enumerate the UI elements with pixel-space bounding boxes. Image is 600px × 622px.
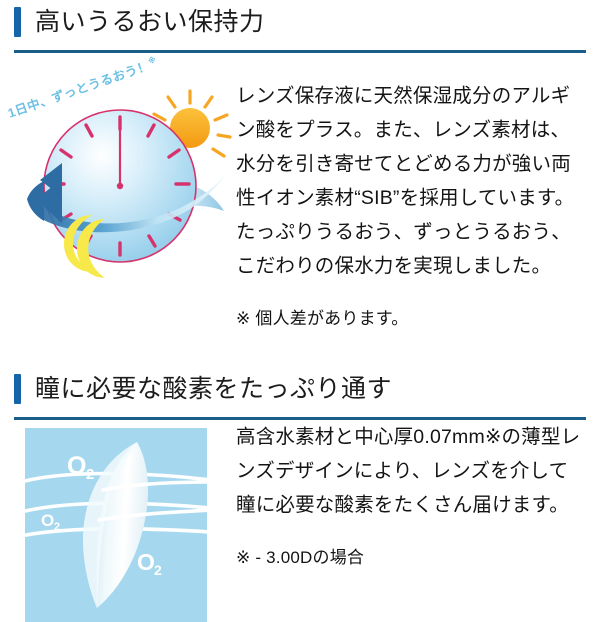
o2-label-top: O bbox=[67, 452, 86, 480]
heading-divider-1 bbox=[14, 50, 586, 53]
o2-label-right-sub: 2 bbox=[154, 562, 162, 578]
product-feature-page: 高いうるおい保持力 bbox=[0, 0, 600, 600]
o2-label-top-sub: 2 bbox=[86, 466, 94, 483]
section-1-note: ※ 個人差があります。 bbox=[236, 305, 584, 333]
lens-oxygen-svg: O 2 O 2 O 2 bbox=[25, 428, 207, 622]
section-1-title: 高いうるおい保持力 bbox=[35, 10, 265, 35]
section-2-text-column: 高含水素材と中心厚0.07mm※の薄型レンズデザインにより、レンズを介して瞳に必… bbox=[236, 420, 600, 572]
section-2-figure-column: O 2 O 2 O 2 bbox=[0, 420, 236, 622]
section-2-body: O 2 O 2 O 2 高含水素材と中心厚0.07mm※の薄型レンズ bbox=[0, 420, 600, 622]
section-1-heading-row: 高いうるおい保持力 bbox=[14, 0, 586, 44]
section-2-paragraph: 高含水素材と中心厚0.07mm※の薄型レンズデザインにより、レンズを介して瞳に必… bbox=[236, 420, 584, 522]
clock-center-dot bbox=[117, 183, 123, 189]
section-2-header: 瞳に必要な酸素をたっぷり通す bbox=[0, 367, 600, 420]
clock-planet-illustration: 1日中、ずっとうるおう！※ bbox=[0, 79, 236, 294]
contact-lens-cross-section bbox=[97, 442, 148, 608]
o2-label-right: O bbox=[137, 549, 155, 575]
section-1-text-column: レンズ保存液に天然保湿成分のアルギン酸をプラス。また、レンズ素材は、水分を引き寄… bbox=[236, 79, 600, 333]
o2-label-left: O bbox=[41, 511, 54, 530]
heading-accent-bar-2 bbox=[14, 374, 21, 404]
section-1-paragraph: レンズ保存液に天然保湿成分のアルギン酸をプラス。また、レンズ素材は、水分を引き寄… bbox=[236, 79, 584, 283]
section-2-heading-row: 瞳に必要な酸素をたっぷり通す bbox=[14, 367, 586, 411]
heading-accent-bar-1 bbox=[14, 7, 21, 37]
section-2-title: 瞳に必要な酸素をたっぷり通す bbox=[35, 377, 392, 402]
section-1-body: 1日中、ずっとうるおう！※ レンズ保存液に天然保湿成分のアルギン酸をプラス。また… bbox=[0, 79, 600, 333]
spacer-between-sections bbox=[0, 333, 600, 367]
lens-oxygen-illustration: O 2 O 2 O 2 bbox=[25, 428, 207, 622]
o2-label-left-sub: 2 bbox=[54, 521, 60, 533]
section-1-header: 高いうるおい保持力 bbox=[0, 0, 600, 53]
section-2-note: ※ - 3.00Dの場合 bbox=[236, 544, 584, 572]
section-1-figure-column: 1日中、ずっとうるおう！※ bbox=[0, 79, 236, 294]
